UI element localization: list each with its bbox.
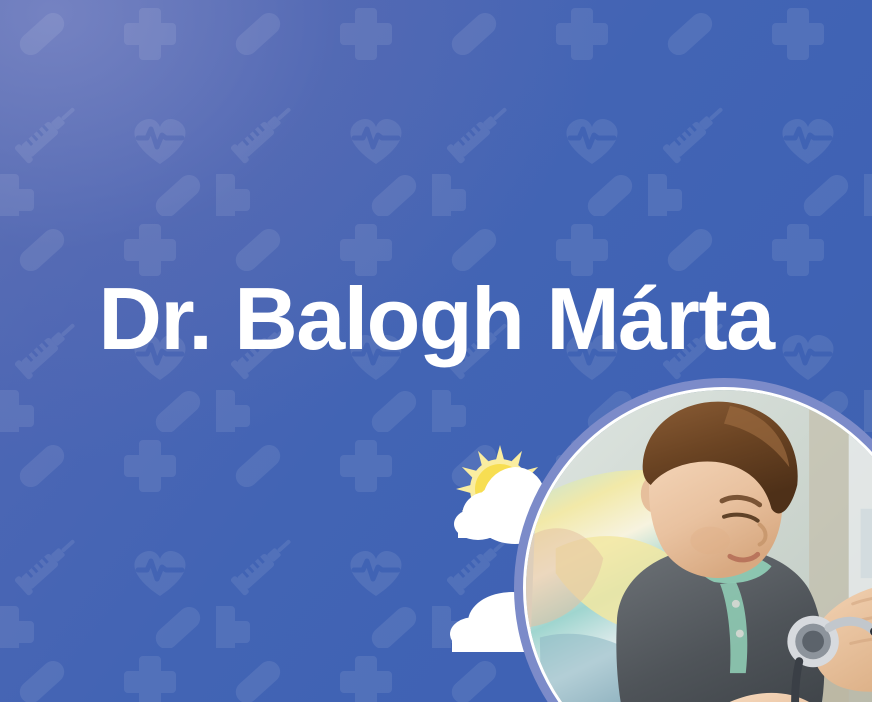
- doctor-profile-banner: Dr. Balogh Márta: [0, 0, 872, 702]
- pediatric-exam-photo: [526, 390, 872, 702]
